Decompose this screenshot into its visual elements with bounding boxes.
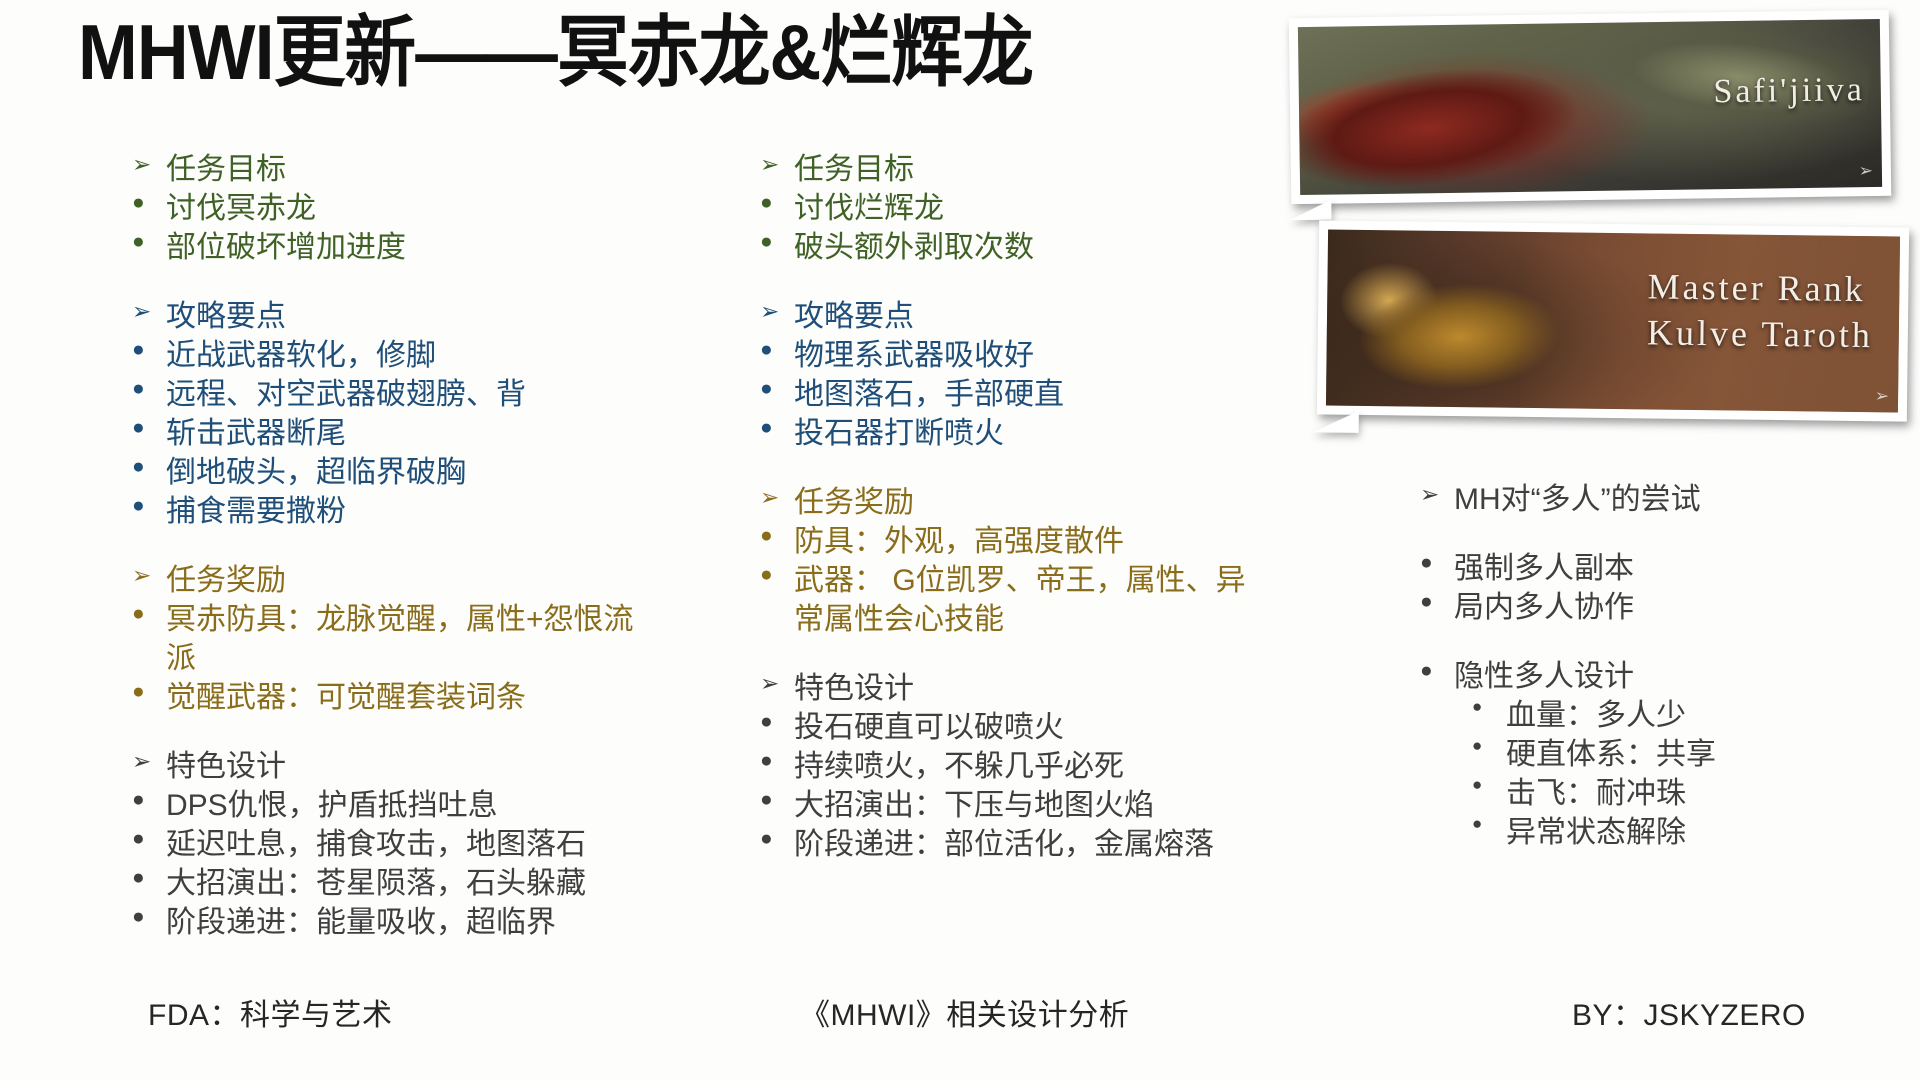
list-item: ● 远程、对空武器破翅膀、背 xyxy=(132,375,652,414)
list-item: ● 防具：外观，高强度散件 xyxy=(760,522,1260,561)
arrow-bullet-icon: ➢ xyxy=(760,669,794,699)
dot-bullet-icon: ● xyxy=(760,336,794,363)
dot-bullet-icon: ● xyxy=(132,492,166,519)
dot-bullet-icon: ● xyxy=(760,786,794,813)
list-item: ● 强制多人副本 xyxy=(1420,549,1890,588)
list-item-label: 部位破坏增加进度 xyxy=(166,228,652,267)
group-heading-label: 任务目标 xyxy=(166,150,652,189)
sub-list-item-label: 击飞：耐冲珠 xyxy=(1506,774,1890,813)
group-rewards-left: ➢ 任务奖励 ● 冥赤防具：龙脉觉醒，属性+怨恨流派 ● 觉醒武器：可觉醒套装词… xyxy=(132,561,652,717)
arrow-bullet-icon: ➢ xyxy=(760,297,794,327)
group-multiplayer-right: ➢ MH对“多人”的尝试 ● 强制多人副本 ● 局内多人协作 xyxy=(1420,480,1890,627)
arrow-bullet-icon: ➢ xyxy=(1420,480,1454,510)
content-column-left: ➢ 任务目标 ● 讨伐冥赤龙 ● 部位破坏增加进度 ➢ 攻略要点 ● 近战武器软… xyxy=(132,150,652,942)
arrow-bullet-icon: ➢ xyxy=(132,297,166,327)
spacer xyxy=(132,531,652,561)
group-heading-label: 特色设计 xyxy=(166,747,652,786)
list-item-label: 投石器打断喷火 xyxy=(794,414,1260,453)
dot-bullet-icon: ● xyxy=(132,864,166,891)
dot-bullet-icon: ● xyxy=(132,336,166,363)
spacer xyxy=(132,267,652,297)
group-heading-row: ➢ 特色设计 xyxy=(760,669,1260,708)
list-item: ● 讨伐冥赤龙 xyxy=(132,189,652,228)
list-item-label: 阶段递进：部位活化，金属熔落 xyxy=(794,825,1260,864)
spacer xyxy=(760,267,1260,297)
dot-bullet-icon: ● xyxy=(132,453,166,480)
dot-bullet-icon: ● xyxy=(1420,549,1454,576)
list-item: ● 地图落石，手部硬直 xyxy=(760,375,1260,414)
arrow-badge-icon: ➢ xyxy=(1875,386,1889,406)
dot-bullet-icon: ● xyxy=(1420,657,1454,684)
list-item: ● 近战武器软化，修脚 xyxy=(132,336,652,375)
group-strategy-left: ➢ 攻略要点 ● 近战武器软化，修脚 ● 远程、对空武器破翅膀、背 ● 斩击武器… xyxy=(132,297,652,531)
spacer xyxy=(132,717,652,747)
list-item-label: 阶段递进：能量吸收，超临界 xyxy=(166,903,652,942)
dot-bullet-icon: ● xyxy=(132,903,166,930)
list-item-label: 物理系武器吸收好 xyxy=(794,336,1260,375)
dot-bullet-icon: ● xyxy=(760,522,794,549)
sub-list-item: ● 异常状态解除 xyxy=(1420,813,1890,852)
sub-list-item-label: 异常状态解除 xyxy=(1506,813,1890,852)
list-item-label: 地图落石，手部硬直 xyxy=(794,375,1260,414)
spacer xyxy=(760,639,1260,669)
list-item: ● 讨伐烂辉龙 xyxy=(760,189,1260,228)
list-item: ● 阶段递进：能量吸收，超临界 xyxy=(132,903,652,942)
list-item-label: 防具：外观，高强度散件 xyxy=(794,522,1260,561)
list-item-label: 觉醒武器：可觉醒套装词条 xyxy=(166,678,652,717)
list-item: ● 阶段递进：部位活化，金属熔落 xyxy=(760,825,1260,864)
dot-bullet-icon: ● xyxy=(1472,696,1506,718)
footer-left-label: FDA：科学与艺术 xyxy=(148,990,393,1034)
list-item-label: 延迟吐息，捕食攻击，地图落石 xyxy=(166,825,652,864)
list-item-label: 投石硬直可以破喷火 xyxy=(794,708,1260,747)
footer-right-label: BY：JSKYZERO xyxy=(1572,990,1806,1034)
list-item: ● 觉醒武器：可觉醒套装词条 xyxy=(132,678,652,717)
arrow-badge-icon: ➢ xyxy=(1859,161,1874,181)
dot-bullet-icon: ● xyxy=(760,189,794,216)
kulve-taroth-artwork: Master Rank Kulve Taroth ➢ xyxy=(1326,230,1900,413)
arrow-bullet-icon: ➢ xyxy=(132,747,166,777)
list-item: ● 持续喷火，不躲几乎必死 xyxy=(760,747,1260,786)
list-item-label: 斩击武器断尾 xyxy=(166,414,652,453)
group-design-middle: ➢ 特色设计 ● 投石硬直可以破喷火 ● 持续喷火，不躲几乎必死 ● 大招演出：… xyxy=(760,669,1260,864)
list-item: ● 投石硬直可以破喷火 xyxy=(760,708,1260,747)
dot-bullet-icon: ● xyxy=(132,786,166,813)
group-heading-label: 任务奖励 xyxy=(794,483,1260,522)
group-design-left: ➢ 特色设计 ● DPS仇恨，护盾抵挡吐息 ● 延迟吐息，捕食攻击，地图落石 ●… xyxy=(132,747,652,942)
list-item-label: 远程、对空武器破翅膀、背 xyxy=(166,375,652,414)
group-objectives-middle: ➢ 任务目标 ● 讨伐烂辉龙 ● 破头额外剥取次数 xyxy=(760,150,1260,267)
dot-bullet-icon: ● xyxy=(132,678,166,705)
dot-bullet-icon: ● xyxy=(760,825,794,852)
group-heading-label: 攻略要点 xyxy=(794,297,1260,336)
image-card-safijiiva[interactable]: Safi'jiiva ➢ xyxy=(1289,10,1892,204)
arrow-bullet-icon: ➢ xyxy=(760,483,794,513)
list-item: ● 延迟吐息，捕食攻击，地图落石 xyxy=(132,825,652,864)
list-item-label: 强制多人副本 xyxy=(1454,549,1890,588)
list-item-label: 破头额外剥取次数 xyxy=(794,228,1260,267)
safijiiva-artwork: Safi'jiiva ➢ xyxy=(1298,19,1882,195)
page-title: MHWI更新——冥赤龙&烂辉龙 xyxy=(78,12,1033,94)
group-heading-label: MH对“多人”的尝试 xyxy=(1454,480,1890,519)
list-item-label: DPS仇恨，护盾抵挡吐息 xyxy=(166,786,652,825)
spacer xyxy=(1420,519,1890,549)
list-item: ● 武器： G位凯罗、帝王，属性、异常属性会心技能 xyxy=(760,561,1260,639)
kulve-taroth-caption: Master Rank Kulve Taroth xyxy=(1647,263,1874,358)
group-heading-row: ➢ 攻略要点 xyxy=(760,297,1260,336)
dot-bullet-icon: ● xyxy=(132,189,166,216)
group-heading-label: 任务目标 xyxy=(794,150,1260,189)
dot-bullet-icon: ● xyxy=(132,600,166,627)
list-item-label: 隐性多人设计 xyxy=(1454,657,1890,696)
spacer xyxy=(1420,627,1890,657)
dot-bullet-icon: ● xyxy=(760,747,794,774)
arrow-bullet-icon: ➢ xyxy=(132,561,166,591)
list-item-label: 讨伐冥赤龙 xyxy=(166,189,652,228)
dot-bullet-icon: ● xyxy=(1420,588,1454,615)
list-item-label: 倒地破头，超临界破胸 xyxy=(166,453,652,492)
group-heading-row: ➢ 任务奖励 xyxy=(132,561,652,600)
list-item: ● 部位破坏增加进度 xyxy=(132,228,652,267)
list-item: ● 物理系武器吸收好 xyxy=(760,336,1260,375)
dot-bullet-icon: ● xyxy=(1472,813,1506,835)
list-item-label: 大招演出：下压与地图火焰 xyxy=(794,786,1260,825)
list-item-label: 冥赤防具：龙脉觉醒，属性+怨恨流派 xyxy=(166,600,652,678)
group-heading-label: 任务奖励 xyxy=(166,561,652,600)
footer-center-label: 《MHWI》相关设计分析 xyxy=(800,990,1129,1034)
corner-fold-decoration xyxy=(1313,410,1359,433)
arrow-bullet-icon: ➢ xyxy=(132,150,166,180)
list-item-label: 捕食需要撒粉 xyxy=(166,492,652,531)
dot-bullet-icon: ● xyxy=(132,414,166,441)
list-item: ● 破头额外剥取次数 xyxy=(760,228,1260,267)
image-card-kulve-taroth[interactable]: Master Rank Kulve Taroth ➢ xyxy=(1317,220,1909,421)
safijiiva-caption: Safi'jiiva xyxy=(1713,71,1865,111)
list-item-label: 大招演出：苍星陨落，石头躲藏 xyxy=(166,864,652,903)
list-item: ● 大招演出：苍星陨落，石头躲藏 xyxy=(132,864,652,903)
sub-list-item: ● 血量：多人少 xyxy=(1420,696,1890,735)
group-heading-row: ➢ 攻略要点 xyxy=(132,297,652,336)
list-item: ● 倒地破头，超临界破胸 xyxy=(132,453,652,492)
spacer xyxy=(760,453,1260,483)
group-heading-label: 攻略要点 xyxy=(166,297,652,336)
list-item-label: 讨伐烂辉龙 xyxy=(794,189,1260,228)
list-item-label: 武器： G位凯罗、帝王，属性、异常属性会心技能 xyxy=(794,561,1260,639)
dot-bullet-icon: ● xyxy=(1472,774,1506,796)
list-item: ● 捕食需要撒粉 xyxy=(132,492,652,531)
list-item: ● 斩击武器断尾 xyxy=(132,414,652,453)
group-implicit-multiplayer-right: ● 隐性多人设计 ● 血量：多人少 ● 硬直体系：共享 ● 击飞：耐冲珠 ● 异… xyxy=(1420,657,1890,852)
group-heading-row: ➢ 任务目标 xyxy=(760,150,1260,189)
corner-fold-decoration xyxy=(1289,200,1331,221)
list-item: ● 隐性多人设计 xyxy=(1420,657,1890,696)
content-column-right: ➢ MH对“多人”的尝试 ● 强制多人副本 ● 局内多人协作 ● 隐性多人设计 … xyxy=(1420,480,1890,852)
dot-bullet-icon: ● xyxy=(132,825,166,852)
group-heading-row: ➢ 任务奖励 xyxy=(760,483,1260,522)
dot-bullet-icon: ● xyxy=(760,414,794,441)
group-heading-row: ➢ MH对“多人”的尝试 xyxy=(1420,480,1890,519)
dot-bullet-icon: ● xyxy=(132,375,166,402)
sub-list-item: ● 击飞：耐冲珠 xyxy=(1420,774,1890,813)
arrow-bullet-icon: ➢ xyxy=(760,150,794,180)
dot-bullet-icon: ● xyxy=(760,375,794,402)
group-strategy-middle: ➢ 攻略要点 ● 物理系武器吸收好 ● 地图落石，手部硬直 ● 投石器打断喷火 xyxy=(760,297,1260,453)
list-item-label: 持续喷火，不躲几乎必死 xyxy=(794,747,1260,786)
list-item-label: 近战武器软化，修脚 xyxy=(166,336,652,375)
sub-list-item-label: 硬直体系：共享 xyxy=(1506,735,1890,774)
dot-bullet-icon: ● xyxy=(132,228,166,255)
list-item: ● 冥赤防具：龙脉觉醒，属性+怨恨流派 xyxy=(132,600,652,678)
list-item: ● DPS仇恨，护盾抵挡吐息 xyxy=(132,786,652,825)
dot-bullet-icon: ● xyxy=(760,228,794,255)
dot-bullet-icon: ● xyxy=(760,708,794,735)
list-item-label: 局内多人协作 xyxy=(1454,588,1890,627)
list-item: ● 大招演出：下压与地图火焰 xyxy=(760,786,1260,825)
list-item: ● 投石器打断喷火 xyxy=(760,414,1260,453)
group-heading-label: 特色设计 xyxy=(794,669,1260,708)
dot-bullet-icon: ● xyxy=(760,561,794,588)
group-heading-row: ➢ 任务目标 xyxy=(132,150,652,189)
group-heading-row: ➢ 特色设计 xyxy=(132,747,652,786)
group-objectives-left: ➢ 任务目标 ● 讨伐冥赤龙 ● 部位破坏增加进度 xyxy=(132,150,652,267)
sub-list-item: ● 硬直体系：共享 xyxy=(1420,735,1890,774)
content-column-middle: ➢ 任务目标 ● 讨伐烂辉龙 ● 破头额外剥取次数 ➢ 攻略要点 ● 物理系武器… xyxy=(760,150,1260,864)
list-item: ● 局内多人协作 xyxy=(1420,588,1890,627)
sub-list-item-label: 血量：多人少 xyxy=(1506,696,1890,735)
dot-bullet-icon: ● xyxy=(1472,735,1506,757)
group-rewards-middle: ➢ 任务奖励 ● 防具：外观，高强度散件 ● 武器： G位凯罗、帝王，属性、异常… xyxy=(760,483,1260,639)
